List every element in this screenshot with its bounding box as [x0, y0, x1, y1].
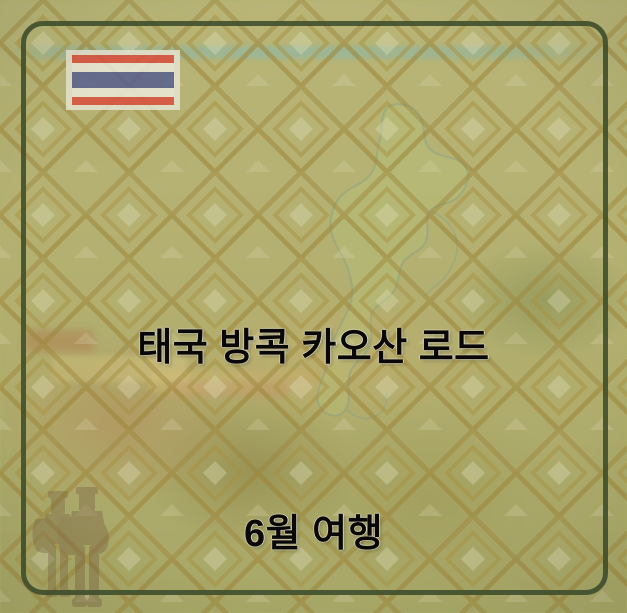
headline-line-2: 6월 여행 — [0, 503, 627, 565]
flag-stripe-white-top — [72, 63, 174, 71]
flag-stripe-blue — [72, 72, 174, 89]
headline-line-1: 태국 방콕 카오산 로드 — [0, 317, 627, 379]
flag-stripe-white-bottom — [72, 88, 174, 96]
thailand-flag-icon — [66, 50, 180, 110]
travel-card: 태국 방콕 카오산 로드 6월 여행 코로나 19? 현지 분위기는 광란 — [0, 0, 627, 613]
flag-stripe-red-bottom — [72, 97, 174, 105]
headline-text-block: 태국 방콕 카오산 로드 6월 여행 코로나 19? 현지 분위기는 광란 — [0, 193, 627, 613]
flag-stripe-red-top — [72, 55, 174, 63]
